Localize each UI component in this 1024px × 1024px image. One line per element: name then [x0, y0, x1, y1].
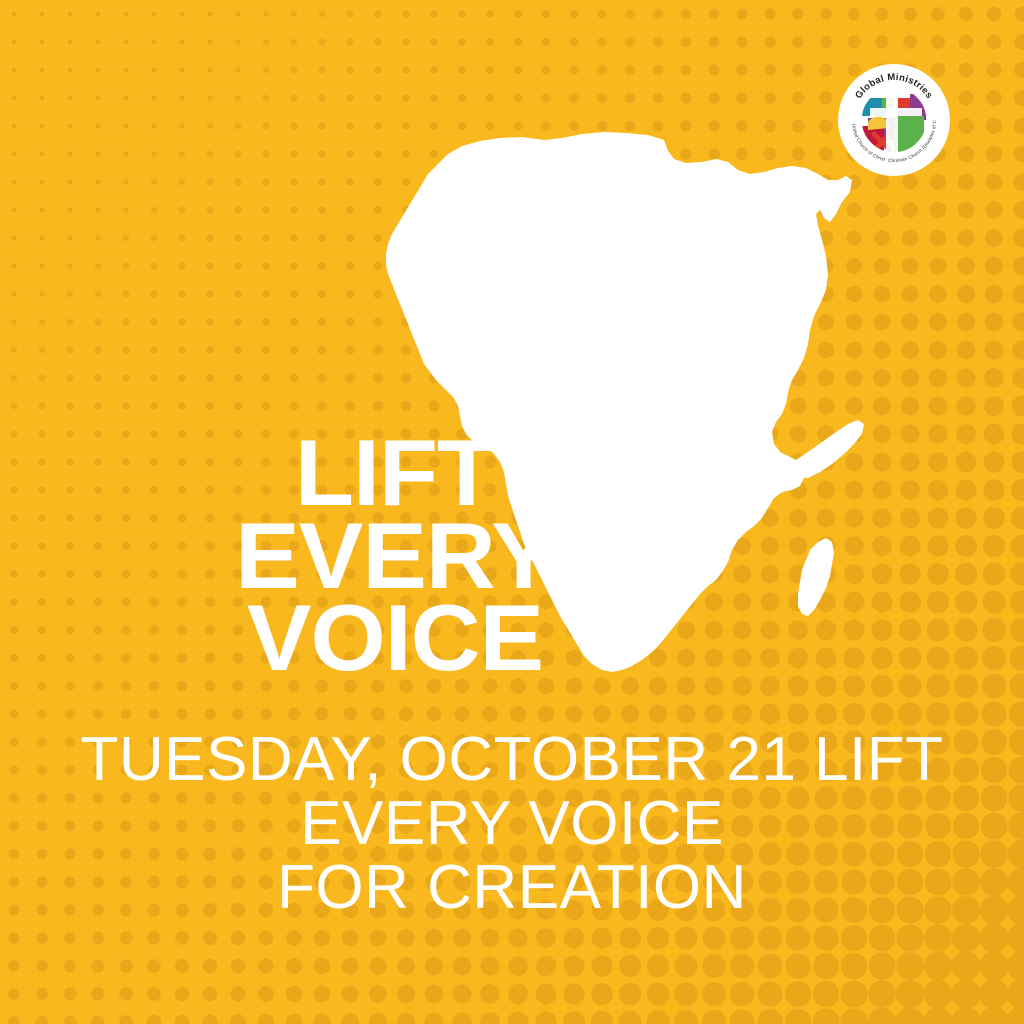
headline: LIFT EVERY VOICE: [0, 432, 802, 680]
global-ministries-logo-svg: Global Ministries United Church of Chris…: [838, 64, 950, 176]
subtitle-line-1: TUESDAY, OCTOBER 21 LIFT: [0, 728, 1024, 792]
madagascar-path: [798, 538, 834, 616]
subtitle-line-3: FOR CREATION: [0, 856, 1024, 920]
headline-line-3: VOICE: [0, 597, 802, 680]
poster-canvas: Global Ministries United Church of Chris…: [0, 0, 1024, 1024]
africa-horn-path: [796, 420, 864, 478]
subtitle: TUESDAY, OCTOBER 21 LIFT EVERY VOICE FOR…: [0, 728, 1024, 920]
global-ministries-logo[interactable]: Global Ministries United Church of Chris…: [838, 64, 950, 176]
subtitle-line-2: EVERY VOICE: [0, 792, 1024, 856]
